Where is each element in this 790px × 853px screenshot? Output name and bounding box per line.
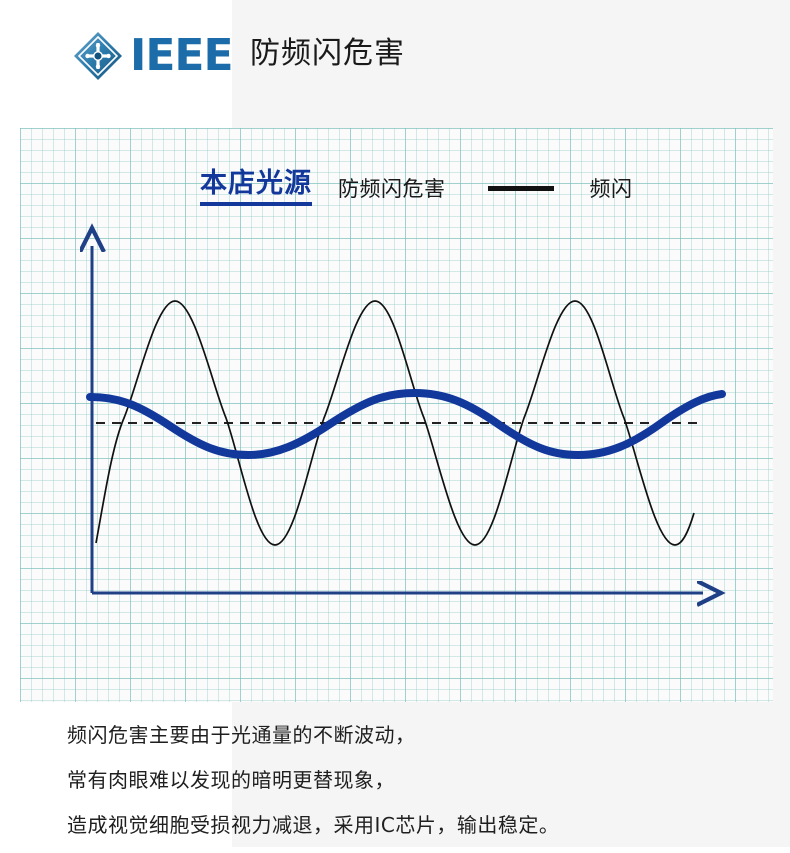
flicker-waveform bbox=[96, 301, 694, 545]
header-bar: IEEE 防频闪危害 bbox=[0, 0, 790, 128]
ieee-diamond-icon bbox=[72, 30, 124, 82]
ieee-wordmark: IEEE bbox=[130, 34, 233, 78]
flicker-chart-panel: 本店光源 防频闪危害 频闪 时间 频闪示意图 bbox=[20, 128, 773, 702]
ieee-logo: IEEE bbox=[72, 30, 233, 82]
page-title: 防频闪危害 bbox=[250, 32, 405, 76]
description-line-1: 频闪危害主要由于光通量的不断波动， bbox=[67, 718, 767, 753]
description-line-2: 常有肉眼难以发现的暗明更替现象， bbox=[67, 763, 767, 798]
description-block: 频闪危害主要由于光通量的不断波动， 常有肉眼难以发现的暗明更替现象， 造成视觉细… bbox=[67, 718, 767, 853]
description-line-3: 造成视觉细胞受损视力减退，采用IC芯片，输出稳定。 bbox=[67, 808, 767, 843]
chart-plot-area bbox=[20, 128, 773, 702]
page-root: IEEE 防频闪危害 本店光源 防频闪危害 频闪 bbox=[0, 0, 790, 847]
